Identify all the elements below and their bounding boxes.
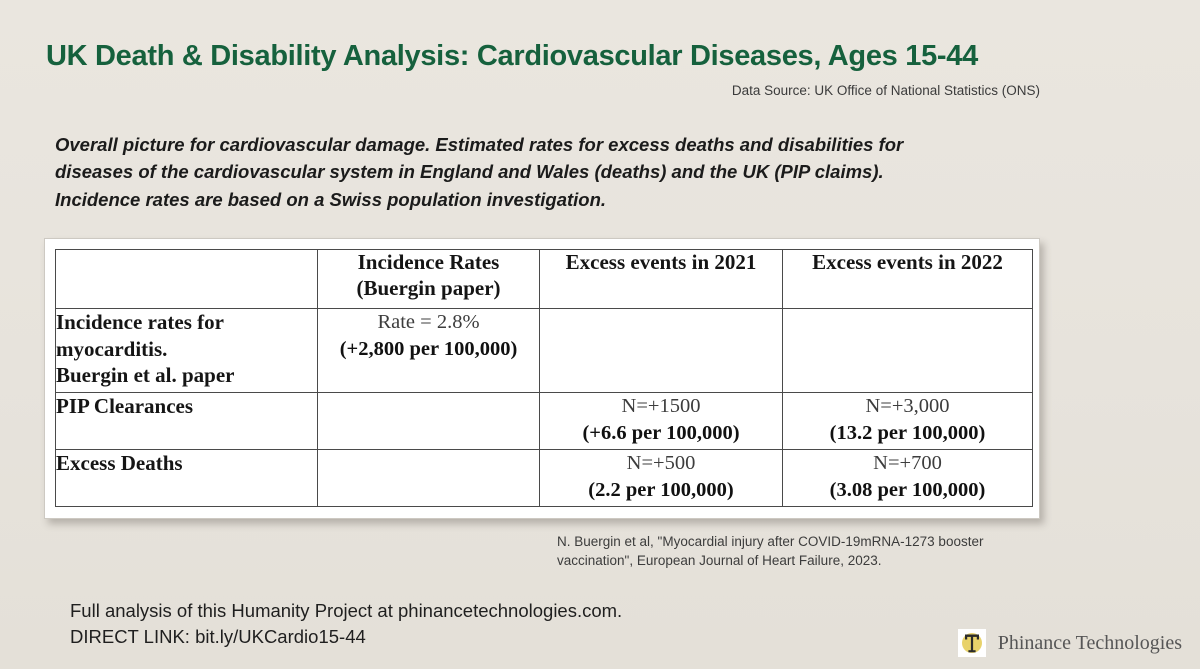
table-row: Excess Deaths N=+500 (2.2 per 100,000) N… <box>56 450 1033 507</box>
cell-pip-2022: N=+3,000 (13.2 per 100,000) <box>783 393 1033 450</box>
data-table-card: Incidence Rates (Buergin paper) Excess e… <box>44 238 1040 519</box>
row-label-line-1: Incidence rates for <box>56 309 317 336</box>
cell-deaths-2022: N=+700 (3.08 per 100,000) <box>783 450 1033 507</box>
phinance-trident-logo-icon <box>958 629 986 657</box>
table-row: Incidence rates for myocarditis. Buergin… <box>56 309 1033 393</box>
footer-note: Full analysis of this Humanity Project a… <box>70 598 622 651</box>
row-label-line-2: myocarditis. <box>56 336 317 363</box>
row-label-pip-clearances: PIP Clearances <box>56 393 318 450</box>
cell-myocarditis-2021 <box>540 309 783 393</box>
table-header: Incidence Rates (Buergin paper) Excess e… <box>56 250 1033 309</box>
cell-value-bottom: (2.2 per 100,000) <box>540 477 782 504</box>
row-label-line-1: Excess Deaths <box>56 450 317 477</box>
cell-value-top: N=+1500 <box>540 393 782 420</box>
intro-line-3: Incidence rates are based on a Swiss pop… <box>55 186 1015 213</box>
citation-note: N. Buergin et al, "Myocardial injury aft… <box>557 532 1057 570</box>
table-header-excess-2022: Excess events in 2022 <box>783 250 1033 309</box>
cell-deaths-2021: N=+500 (2.2 per 100,000) <box>540 450 783 507</box>
cell-pip-2021: N=+1500 (+6.6 per 100,000) <box>540 393 783 450</box>
cell-myocarditis-2022 <box>783 309 1033 393</box>
table-header-row: Incidence Rates (Buergin paper) Excess e… <box>56 250 1033 309</box>
cell-value-top: N=+500 <box>540 450 782 477</box>
table-header-incidence-rates-line1: Incidence Rates <box>358 250 500 274</box>
table-header-corner <box>56 250 318 309</box>
intro-line-1: Overall picture for cardiovascular damag… <box>55 131 1015 158</box>
brand-lockup: Phinance Technologies <box>958 629 1182 657</box>
cell-value-top: N=+700 <box>783 450 1032 477</box>
table-body: Incidence rates for myocarditis. Buergin… <box>56 309 1033 507</box>
cell-value-bottom: (+2,800 per 100,000) <box>318 336 539 363</box>
footer-line-1: Full analysis of this Humanity Project a… <box>70 598 622 624</box>
data-source-note: Data Source: UK Office of National Stati… <box>732 83 1040 98</box>
citation-line-2: vaccination", European Journal of Heart … <box>557 551 1057 570</box>
cell-value-top: Rate = 2.8% <box>318 309 539 336</box>
page-title: UK Death & Disability Analysis: Cardiova… <box>46 40 978 73</box>
row-label-excess-deaths: Excess Deaths <box>56 450 318 507</box>
table-header-incidence-rates: Incidence Rates (Buergin paper) <box>318 250 540 309</box>
footer-line-2: DIRECT LINK: bit.ly/UKCardio15-44 <box>70 624 622 650</box>
cell-pip-incidence <box>318 393 540 450</box>
citation-line-1: N. Buergin et al, "Myocardial injury aft… <box>557 532 1057 551</box>
row-label-line-1: PIP Clearances <box>56 393 317 420</box>
brand-name: Phinance Technologies <box>998 632 1182 655</box>
analysis-table: Incidence Rates (Buergin paper) Excess e… <box>55 249 1033 507</box>
slide-canvas: UK Death & Disability Analysis: Cardiova… <box>0 0 1200 669</box>
intro-line-2: diseases of the cardiovascular system in… <box>55 158 1015 185</box>
table-header-excess-2021: Excess events in 2021 <box>540 250 783 309</box>
cell-value-bottom: (+6.6 per 100,000) <box>540 420 782 447</box>
table-row: PIP Clearances N=+1500 (+6.6 per 100,000… <box>56 393 1033 450</box>
cell-deaths-incidence <box>318 450 540 507</box>
table-header-incidence-rates-line2: (Buergin paper) <box>318 276 539 302</box>
cell-value-bottom: (3.08 per 100,000) <box>783 477 1032 504</box>
row-label-myocarditis: Incidence rates for myocarditis. Buergin… <box>56 309 318 393</box>
cell-value-top: N=+3,000 <box>783 393 1032 420</box>
row-label-line-3: Buergin et al. paper <box>56 362 317 389</box>
intro-paragraph: Overall picture for cardiovascular damag… <box>55 131 1015 213</box>
cell-value-bottom: (13.2 per 100,000) <box>783 420 1032 447</box>
cell-myocarditis-incidence: Rate = 2.8% (+2,800 per 100,000) <box>318 309 540 393</box>
